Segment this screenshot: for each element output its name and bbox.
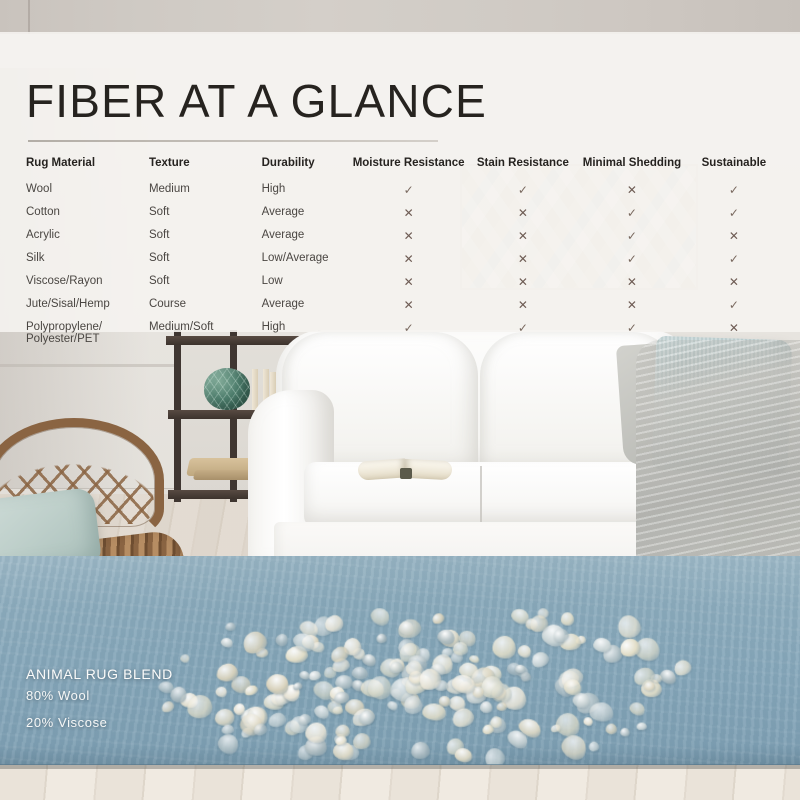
check-icon: ✓ bbox=[518, 321, 528, 335]
cross-icon: ✕ bbox=[627, 298, 637, 312]
cell-texture: Medium/Soft bbox=[149, 316, 262, 349]
cell-rug-material: Viscose/Rayon bbox=[26, 270, 149, 293]
cell-rug-material: Polypropylene/Polyester/PET bbox=[26, 316, 149, 349]
cell-sustainable: ✕ bbox=[690, 316, 778, 349]
book-spine-center bbox=[400, 468, 412, 479]
column-header-moisture-resistance: Moisture Resistance bbox=[346, 152, 472, 178]
rug-pebble-motif bbox=[530, 649, 552, 670]
cell-rug-material: Acrylic bbox=[26, 224, 149, 247]
cross-icon: ✕ bbox=[518, 229, 528, 243]
cell-minimal-shedding: ✓ bbox=[574, 316, 690, 349]
column-header-texture: Texture bbox=[149, 152, 262, 178]
cross-icon: ✕ bbox=[627, 183, 637, 197]
rug-pebble-motif bbox=[214, 731, 241, 757]
cell-texture: Soft bbox=[149, 201, 262, 224]
cell-stain-resistance: ✕ bbox=[472, 270, 574, 293]
cell-sustainable: ✓ bbox=[690, 247, 778, 270]
cell-moisture-resistance: ✕ bbox=[346, 201, 472, 224]
cell-minimal-shedding: ✓ bbox=[574, 201, 690, 224]
infographic-root: ANIMAL RUG BLEND 80% Wool 20% Viscose FI… bbox=[0, 0, 800, 800]
cell-sustainable: ✕ bbox=[690, 270, 778, 293]
rug-pebble-motif bbox=[517, 644, 533, 660]
rug-pebble-motif bbox=[368, 605, 392, 629]
cell-durability: Average bbox=[262, 201, 346, 224]
cell-moisture-resistance: ✕ bbox=[346, 224, 472, 247]
table-row: CottonSoftAverage✕✕✓✓ bbox=[26, 201, 778, 224]
rug-pebble-motif bbox=[396, 616, 423, 641]
caption-title: ANIMAL RUG BLEND bbox=[26, 666, 173, 682]
rug-pebble-motif bbox=[220, 636, 234, 649]
fiber-comparison-table: Rug Material Texture Durability Moisture… bbox=[26, 152, 778, 349]
material-name: Acrylic bbox=[26, 229, 149, 241]
check-icon: ✓ bbox=[404, 321, 414, 335]
rug-pebble-motif bbox=[496, 702, 507, 711]
cell-sustainable: ✓ bbox=[690, 178, 778, 201]
cell-moisture-resistance: ✓ bbox=[346, 316, 472, 349]
cell-moisture-resistance: ✕ bbox=[346, 247, 472, 270]
rug-pebble-motif bbox=[386, 699, 399, 712]
material-name: Viscose/Rayon bbox=[26, 275, 149, 287]
cross-icon: ✕ bbox=[404, 275, 414, 289]
rug-pebble-motif bbox=[452, 642, 468, 655]
check-icon: ✓ bbox=[729, 206, 739, 220]
check-icon: ✓ bbox=[729, 183, 739, 197]
rug-pebble-motif bbox=[605, 723, 617, 734]
caption-blend-line-2: 20% Viscose bbox=[26, 715, 173, 730]
rug-pebble-motif bbox=[619, 727, 630, 737]
cell-stain-resistance: ✓ bbox=[472, 316, 574, 349]
check-icon: ✓ bbox=[518, 183, 528, 197]
rug-pebble-motif bbox=[359, 710, 374, 724]
rug-pebble-motif bbox=[179, 653, 191, 664]
cross-icon: ✕ bbox=[518, 275, 528, 289]
cell-texture: Medium bbox=[149, 178, 262, 201]
check-icon: ✓ bbox=[627, 229, 637, 243]
wood-floor-foreground bbox=[0, 765, 800, 800]
check-icon: ✓ bbox=[627, 252, 637, 266]
rug-pebble-motif bbox=[561, 612, 574, 625]
material-name: Cotton bbox=[26, 206, 149, 218]
cell-rug-material: Silk bbox=[26, 247, 149, 270]
column-header-sustainable: Sustainable bbox=[690, 152, 778, 178]
cell-rug-material: Cotton bbox=[26, 201, 149, 224]
column-header-durability: Durability bbox=[262, 152, 346, 178]
column-header-stain-resistance: Stain Resistance bbox=[472, 152, 574, 178]
check-icon: ✓ bbox=[627, 206, 637, 220]
table-row: SilkSoftLow/Average✕✕✓✓ bbox=[26, 247, 778, 270]
rug-pebble-motif bbox=[515, 664, 525, 673]
rug-pebble-motif bbox=[214, 685, 228, 698]
cross-icon: ✕ bbox=[404, 229, 414, 243]
cell-stain-resistance: ✓ bbox=[472, 178, 574, 201]
cell-rug-material: Jute/Sisal/Hemp bbox=[26, 293, 149, 316]
cell-moisture-resistance: ✕ bbox=[346, 270, 472, 293]
rug-pebble-motif bbox=[559, 731, 591, 763]
cell-rug-material: Wool bbox=[26, 178, 149, 201]
material-name: Jute/Sisal/Hemp bbox=[26, 298, 149, 310]
cell-moisture-resistance: ✕ bbox=[346, 293, 472, 316]
cell-sustainable: ✕ bbox=[690, 224, 778, 247]
cell-texture: Soft bbox=[149, 224, 262, 247]
cross-icon: ✕ bbox=[404, 252, 414, 266]
rug-pebble-motif bbox=[274, 631, 290, 647]
cross-icon: ✕ bbox=[729, 321, 739, 335]
table-header-row: Rug Material Texture Durability Moisture… bbox=[26, 152, 778, 178]
sofa-cushion-seam bbox=[480, 466, 482, 524]
cell-minimal-shedding: ✓ bbox=[574, 224, 690, 247]
cell-durability: Average bbox=[262, 224, 346, 247]
check-icon: ✓ bbox=[404, 183, 414, 197]
cell-minimal-shedding: ✕ bbox=[574, 178, 690, 201]
cell-minimal-shedding: ✕ bbox=[574, 293, 690, 316]
column-header-rug-material: Rug Material bbox=[26, 152, 149, 178]
cell-durability: Low bbox=[262, 270, 346, 293]
cell-texture: Soft bbox=[149, 247, 262, 270]
rug-pebble-motif bbox=[375, 633, 386, 644]
rug-pebble-motif bbox=[222, 724, 235, 735]
cell-stain-resistance: ✕ bbox=[472, 201, 574, 224]
table-row: Jute/Sisal/HempCourseAverage✕✕✕✓ bbox=[26, 293, 778, 316]
cross-icon: ✕ bbox=[729, 229, 739, 243]
cell-minimal-shedding: ✕ bbox=[574, 270, 690, 293]
title-divider bbox=[28, 140, 438, 142]
cross-icon: ✕ bbox=[518, 206, 528, 220]
fiber-table-panel: FIBER AT A GLANCE Rug Material Texture D… bbox=[0, 32, 800, 332]
cell-durability: High bbox=[262, 316, 346, 349]
rug-pebble-motif bbox=[225, 622, 236, 631]
cross-icon: ✕ bbox=[518, 252, 528, 266]
rug-pebble-motif bbox=[410, 741, 431, 761]
rug-pebble-motif bbox=[592, 637, 612, 654]
rug-pebble-motif bbox=[615, 612, 644, 641]
rug-pebble-motif bbox=[636, 722, 647, 730]
column-header-minimal-shedding: Minimal Shedding bbox=[574, 152, 690, 178]
material-name: Silk bbox=[26, 252, 149, 264]
cross-icon: ✕ bbox=[404, 298, 414, 312]
green-glass-orb-decor bbox=[204, 368, 250, 410]
cross-icon: ✕ bbox=[729, 275, 739, 289]
cell-texture: Soft bbox=[149, 270, 262, 293]
cell-durability: Average bbox=[262, 293, 346, 316]
cell-minimal-shedding: ✓ bbox=[574, 247, 690, 270]
cell-stain-resistance: ✕ bbox=[472, 224, 574, 247]
cell-durability: Low/Average bbox=[262, 247, 346, 270]
table-row: Polypropylene/Polyester/PETMedium/SoftHi… bbox=[26, 316, 778, 349]
check-icon: ✓ bbox=[729, 252, 739, 266]
table-row: Viscose/RayonSoftLow✕✕✕✕ bbox=[26, 270, 778, 293]
table-row: AcrylicSoftAverage✕✕✓✕ bbox=[26, 224, 778, 247]
cross-icon: ✕ bbox=[404, 206, 414, 220]
rug-pebble-motif bbox=[628, 700, 646, 717]
cell-stain-resistance: ✕ bbox=[472, 247, 574, 270]
cell-durability: High bbox=[262, 178, 346, 201]
rug-pebble-motif bbox=[454, 747, 474, 764]
table-body: WoolMediumHigh✓✓✕✓CottonSoftAverage✕✕✓✓A… bbox=[26, 178, 778, 349]
cross-icon: ✕ bbox=[627, 275, 637, 289]
caption-blend-line-1: 80% Wool bbox=[26, 688, 173, 703]
rug-pebble-motif bbox=[589, 702, 612, 722]
cell-stain-resistance: ✕ bbox=[472, 293, 574, 316]
upper-wall-band bbox=[0, 0, 800, 34]
rug-pebble-motif bbox=[308, 670, 322, 682]
page-title: FIBER AT A GLANCE bbox=[26, 78, 487, 124]
open-book-on-sofa bbox=[358, 456, 454, 482]
product-caption: ANIMAL RUG BLEND 80% Wool 20% Viscose bbox=[26, 666, 173, 730]
material-name-line2: Polyester/PET bbox=[26, 333, 149, 345]
check-icon: ✓ bbox=[627, 321, 637, 335]
rug-pebble-motif bbox=[643, 681, 655, 691]
rug-pebble-motif bbox=[480, 701, 494, 714]
cell-texture: Course bbox=[149, 293, 262, 316]
cell-sustainable: ✓ bbox=[690, 293, 778, 316]
check-icon: ✓ bbox=[729, 298, 739, 312]
cross-icon: ✕ bbox=[518, 298, 528, 312]
rug-pebble-motif bbox=[215, 708, 235, 726]
rug-pebble-motif bbox=[587, 740, 600, 752]
rug-pebble-motif bbox=[431, 612, 447, 627]
rug-pebble-motif bbox=[351, 666, 369, 681]
material-name: Wool bbox=[26, 183, 149, 195]
table-row: WoolMediumHigh✓✓✕✓ bbox=[26, 178, 778, 201]
rug-pebble-motif bbox=[491, 635, 516, 660]
cell-moisture-resistance: ✓ bbox=[346, 178, 472, 201]
material-name: Polypropylene/ bbox=[26, 321, 149, 333]
cell-sustainable: ✓ bbox=[690, 201, 778, 224]
